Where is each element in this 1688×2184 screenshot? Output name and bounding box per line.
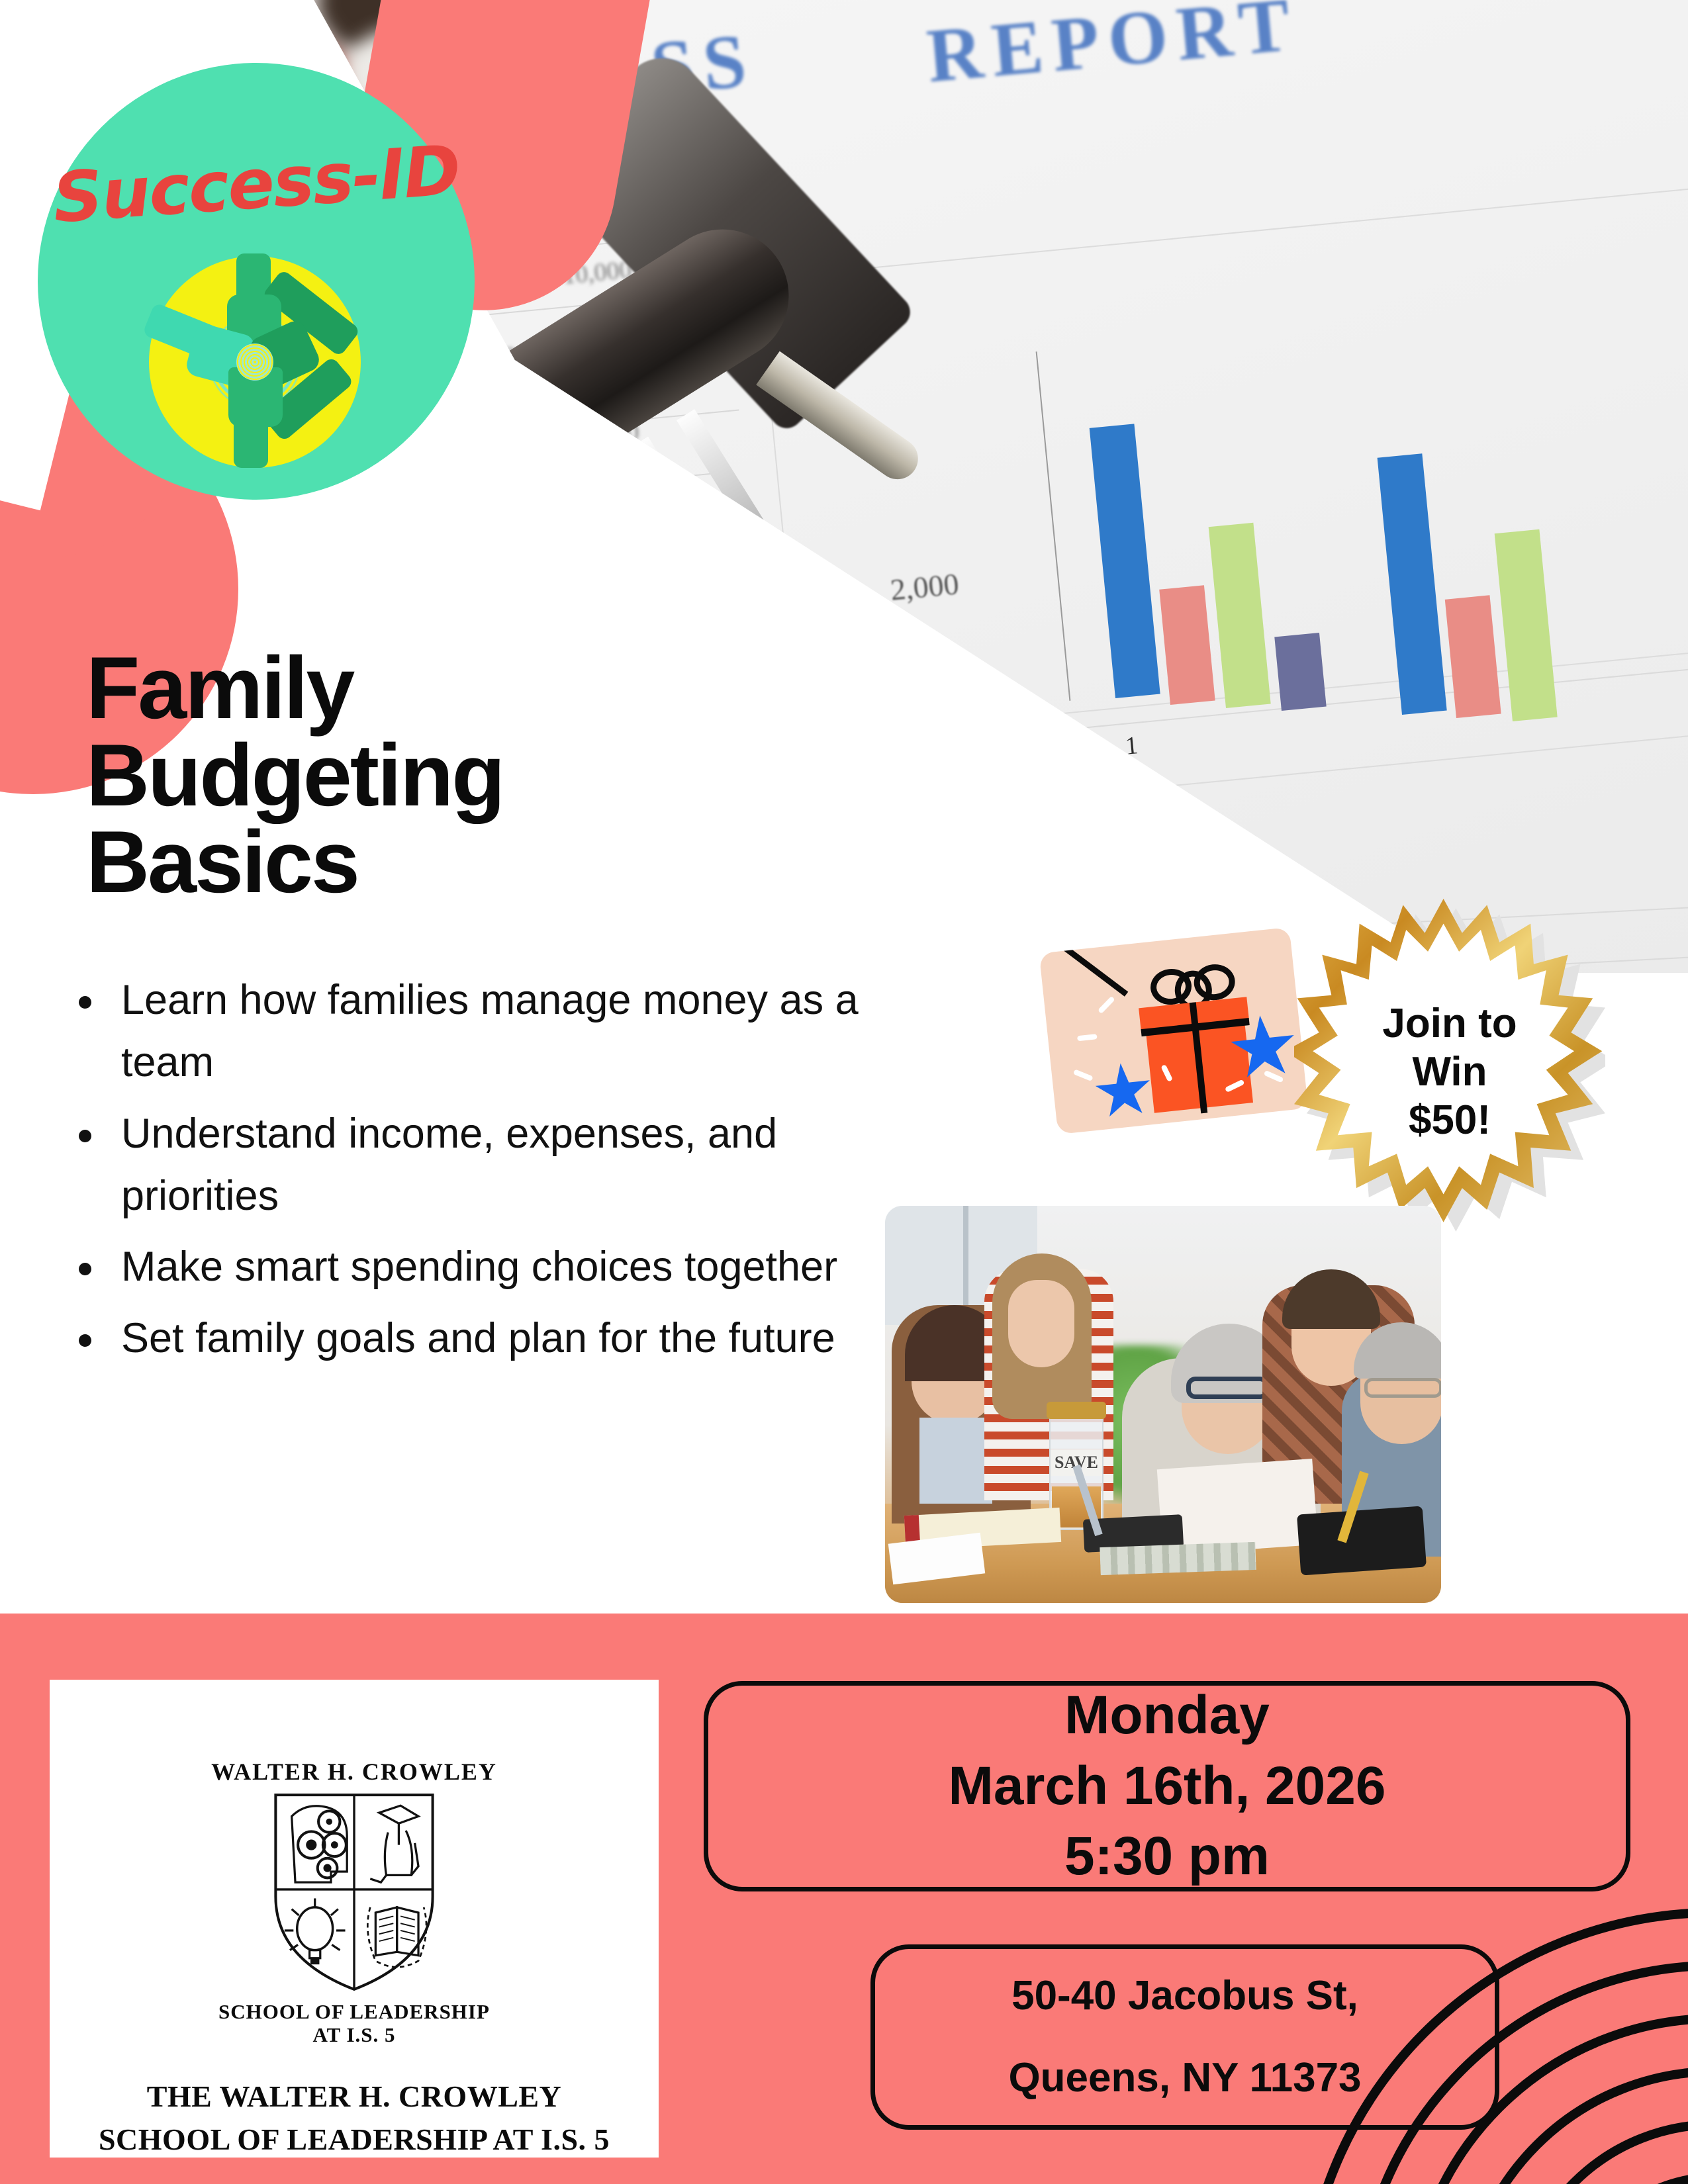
logo-center-swirl — [236, 343, 273, 381]
crest-bottom-text: SCHOOL OF LEADERSHIP AT I.S. 5 — [218, 2000, 490, 2047]
event-day: Monday — [949, 1680, 1386, 1751]
list-item: Make smart spending choices together — [63, 1236, 917, 1298]
sparkle-tick — [1077, 1034, 1098, 1041]
badge-line-1: Join to — [1294, 999, 1605, 1048]
success-id-wordmark: Success-ID — [36, 128, 477, 240]
line-axis-label: 9,000 — [1099, 897, 1180, 943]
bar-axis-label: 2,000 — [889, 566, 961, 608]
family-budgeting-photo: SAVE — [885, 1206, 1441, 1603]
photo-face-girl-2 — [1008, 1280, 1074, 1367]
page-title: Family Budgeting Basics — [86, 645, 847, 907]
photo-calculator — [1297, 1506, 1427, 1575]
report-number: 1.20 — [475, 342, 517, 371]
report-number: 21,140 — [369, 557, 434, 588]
photo-jar-lid — [1047, 1402, 1106, 1419]
benefit-list: Learn how families manage money as a tea… — [63, 970, 917, 1379]
gift-card-slash — [1045, 932, 1128, 996]
report-number: 1.41 — [482, 505, 524, 534]
event-date: March 16th, 2026 — [949, 1751, 1386, 1822]
muffin-blur-5 — [199, 0, 318, 46]
school-logo-card: WALTER H. CROWLEY — [50, 1680, 659, 2158]
sparkle-tick — [1073, 1069, 1094, 1081]
photo-hair-son — [1282, 1269, 1380, 1329]
list-item: Understand income, expenses, and priorit… — [63, 1103, 917, 1228]
gift-card-illustration — [1039, 927, 1309, 1134]
success-id-logo: Success-ID — [38, 63, 475, 500]
school-name-line-1: THE WALTER H. CROWLEY — [99, 2075, 610, 2118]
logo-hands-ring-icon — [149, 256, 361, 468]
crest-top-text: WALTER H. CROWLEY — [211, 1758, 497, 1786]
list-item: Learn how families manage money as a tea… — [63, 970, 917, 1094]
report-number: 1.91 — [477, 396, 518, 426]
crest-bottom-line-2: AT I.S. 5 — [218, 2023, 490, 2046]
line-axis-label: 10,000 — [1071, 846, 1169, 893]
list-item: Set family goals and plan for the future — [63, 1308, 917, 1370]
photo-cash — [1100, 1542, 1256, 1575]
photo-shirt-mother — [919, 1418, 992, 1504]
chart-bar — [1274, 633, 1326, 711]
school-crest-icon — [262, 1790, 446, 1995]
report-number: 4.489 — [657, 932, 720, 968]
crest-shield-svg — [262, 1790, 446, 1995]
title-line-2: Budgeting — [86, 733, 847, 820]
title-line-1: Family — [86, 645, 847, 733]
school-name: THE WALTER H. CROWLEY SCHOOL OF LEADERSH… — [99, 2075, 610, 2161]
flyer-page: NESS REPORT 10,000 9,000 8,000 7,000 8.2… — [0, 0, 1688, 2184]
sparkle-star-left-icon — [1092, 1060, 1155, 1123]
photo-glasses-grandfather — [1364, 1378, 1441, 1398]
title-line-3: Basics — [86, 819, 847, 907]
prize-badge: Join to Win $50! — [1294, 899, 1605, 1236]
prize-badge-text: Join to Win $50! — [1294, 999, 1605, 1144]
bar-chart-category-label: 1 — [1124, 731, 1139, 761]
report-number: 1.49 — [323, 516, 365, 545]
badge-line-3: $50! — [1294, 1096, 1605, 1144]
report-number: 1.17 — [479, 451, 521, 480]
footer-bar: WALTER H. CROWLEY — [0, 1614, 1688, 2184]
school-name-line-2: SCHOOL OF LEADERSHIP AT I.S. 5 — [99, 2118, 610, 2161]
sparkle-tick — [1264, 1070, 1284, 1083]
photo-glasses-grandmother — [1186, 1377, 1269, 1399]
report-number-sharp: 1.39 — [863, 796, 914, 832]
decorative-arcs — [1225, 1833, 1688, 2184]
pen-clip-slot — [452, 484, 653, 646]
sparkle-tick — [1098, 996, 1115, 1014]
bar-axis-label: 1,000 — [866, 632, 937, 674]
badge-line-2: Win — [1294, 1048, 1605, 1096]
crest-bottom-line-1: SCHOOL OF LEADERSHIP — [218, 2000, 490, 2023]
